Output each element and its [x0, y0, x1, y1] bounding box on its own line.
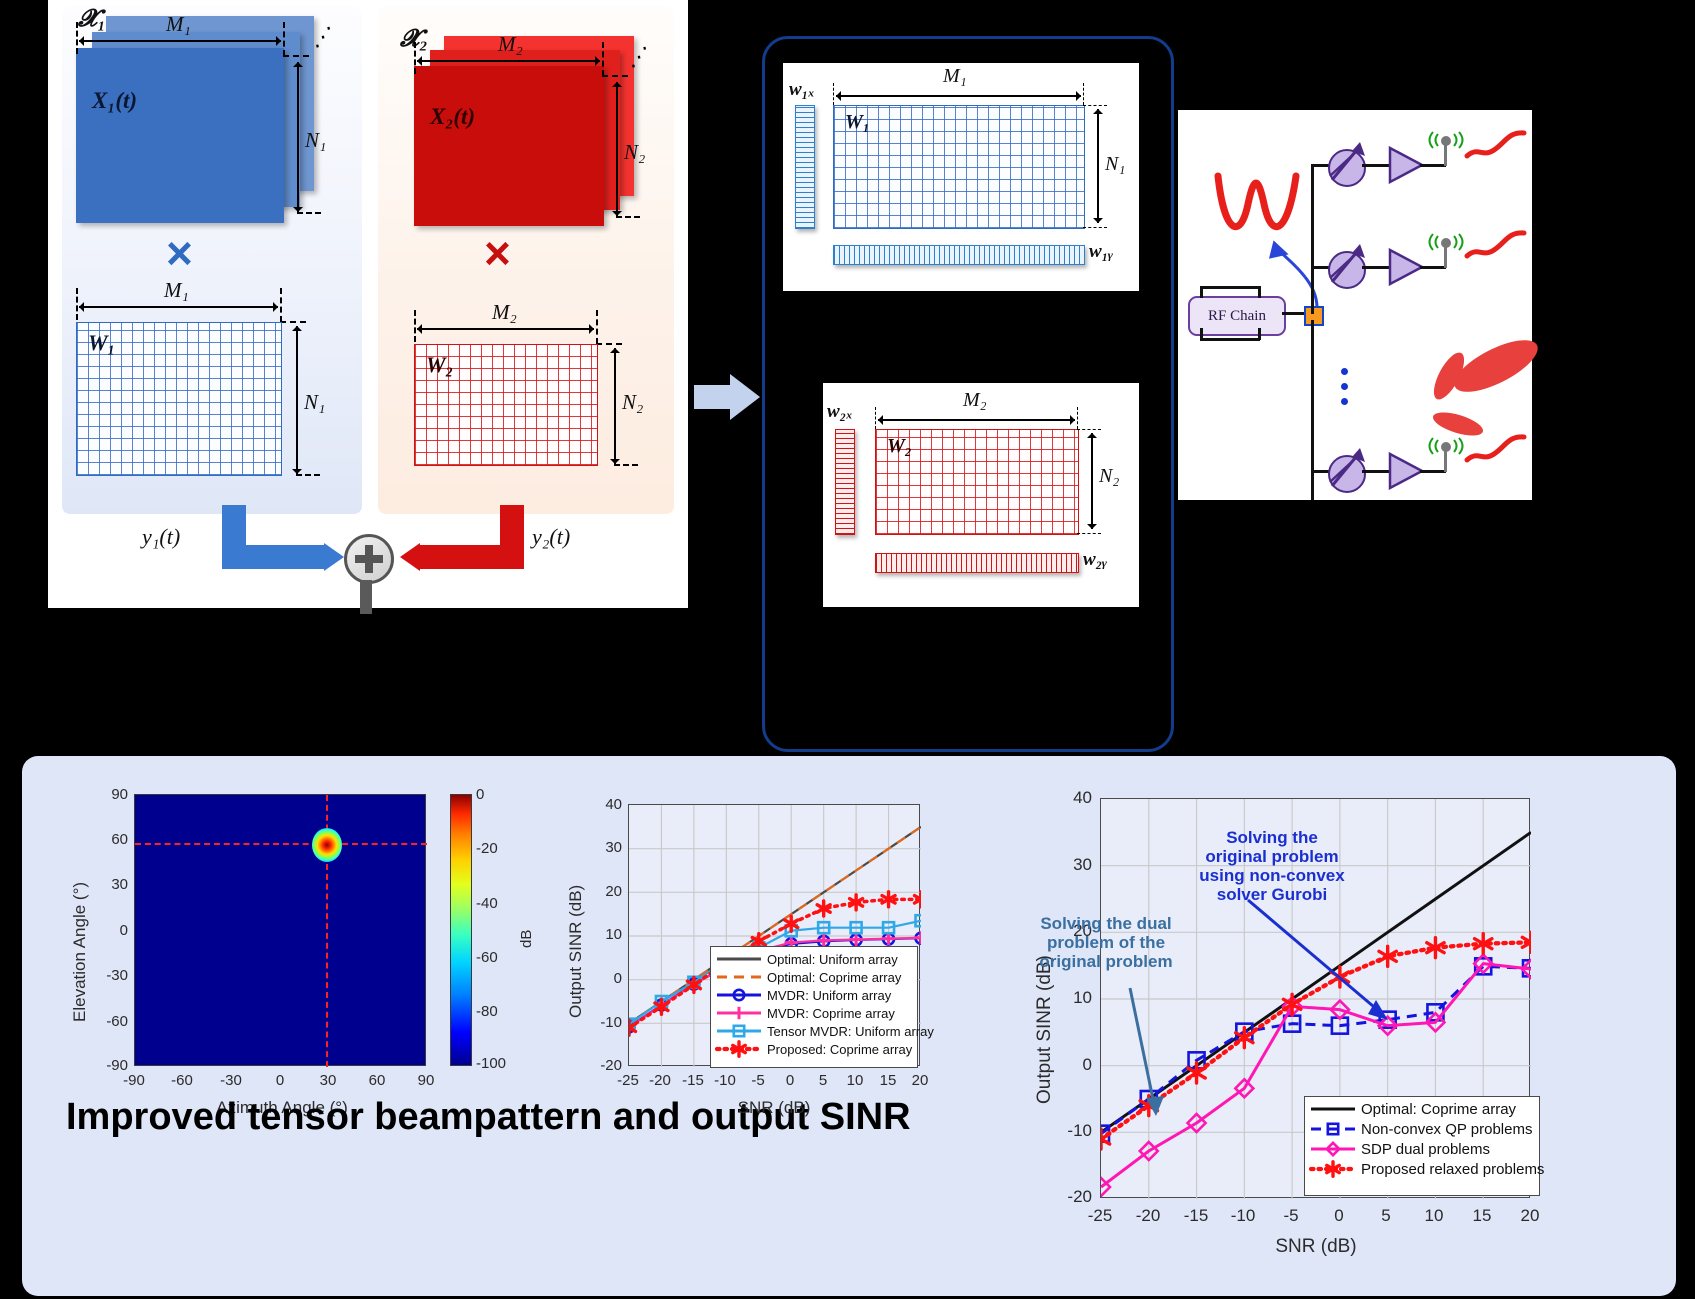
cbar-tick-0: 0 — [476, 786, 522, 803]
rf-architecture-panel: RF Chain — [1178, 110, 1532, 500]
cbar-label: dB — [518, 930, 535, 948]
heatmap-xtick-3: 0 — [256, 1072, 304, 1089]
heatmap-xtick-2: -30 — [207, 1072, 255, 1089]
legend-swatch — [715, 1004, 763, 1022]
legend-label: Proposed relaxed problems — [1361, 1161, 1544, 1178]
sinr2-xtick-9: 20 — [898, 1072, 942, 1089]
legend-swatch — [715, 1040, 763, 1058]
dim-label-w2-m: M₂ — [492, 300, 517, 325]
legend-label: MVDR: Uniform array — [767, 988, 891, 1003]
phase-shifter-arrow-2 — [1326, 240, 1368, 286]
decomp-matrix-w1-label: W₁ — [845, 111, 870, 134]
legend-entry: Proposed: Coprime array — [715, 1040, 913, 1058]
dim-arrow-m2 — [417, 60, 600, 62]
sum-output-stem — [360, 580, 372, 614]
sinr2-ytick-6: 40 — [578, 796, 622, 813]
weight-matrix-1-label: W₁ — [88, 330, 115, 356]
decomposition-card-1: w₁ₓ M₁ W₁ N₁ w₁ᵧ — [783, 63, 1139, 291]
dim-arrow-n1 — [297, 62, 299, 212]
heatmap-image — [134, 794, 426, 1066]
tensor1-label: 𝓧₁ — [78, 6, 106, 33]
legend-swatch — [715, 950, 763, 968]
summation-node — [344, 534, 394, 584]
phase-shifter-arrow-n — [1326, 444, 1368, 490]
legend-swatch — [1309, 1100, 1357, 1118]
sinr2-xlabel: SNR (dB) — [704, 1098, 844, 1118]
operator-times-1: × — [166, 230, 193, 276]
tensor-model-panel: 𝓧₁ X₁(t) ⋰ M₁ N₁ × M₁ W₁ N₁ y₁(t) 𝓧₂ X₂(… — [48, 0, 688, 608]
matrix2-label: X₂(t) — [430, 104, 475, 130]
heatmap-elevation-guide — [135, 843, 427, 845]
heatmap-ytick-1: 60 — [84, 831, 128, 848]
decomp-dim-m2: M₂ — [963, 389, 987, 412]
legend-entry: SDP dual problems — [1309, 1139, 1535, 1159]
heatmap-xtick-6: 90 — [402, 1072, 450, 1089]
annotation-arrow-dual — [1120, 984, 1180, 1124]
legend-entry: Optimal: Coprime array — [715, 968, 913, 986]
sinr3-xtick-3: -10 — [1219, 1206, 1267, 1226]
legend-entry: MVDR: Coprime array — [715, 1004, 913, 1022]
decomp-dim-m1: M₁ — [943, 65, 967, 88]
relaxation-comparison-chart: 40 30 20 10 0 -10 -20 -25 -20 -15 -10 -5… — [1012, 766, 1612, 1286]
decomp-matrix-w1 — [833, 105, 1085, 229]
sinr3-xtick-6: 5 — [1362, 1206, 1410, 1226]
dim-arrow-n2 — [616, 82, 618, 216]
splitter-node — [1304, 306, 1324, 326]
antenna-icon-1 — [1428, 130, 1464, 150]
vector-w2y-strip — [875, 553, 1079, 573]
sinr3-xtick-9: 20 — [1506, 1206, 1554, 1226]
legend-entry: Tensor MVDR: Uniform array — [715, 1022, 913, 1040]
cbar-tick-2: -40 — [476, 895, 522, 912]
beam-pattern-icon — [1414, 328, 1544, 448]
y1-label: y₁(t) — [142, 524, 180, 550]
cbar-tick-4: -80 — [476, 1003, 522, 1020]
legend-label: SDP dual problems — [1361, 1141, 1490, 1158]
dim-label-w1-n: N₁ — [304, 390, 325, 415]
flow-arrow-right — [694, 374, 760, 420]
sinr-comparison-chart: 40 30 20 10 0 -10 -20 -25 -20 -15 -10 -5… — [542, 778, 1002, 1198]
y2-arrow-head — [400, 543, 420, 571]
legend-label: Optimal: Coprime array — [1361, 1101, 1516, 1118]
heatmap-ytick-3: 0 — [84, 922, 128, 939]
dim-label-w1-m: M₁ — [164, 278, 189, 303]
decomp-matrix-w2-label: W₂ — [887, 435, 912, 458]
dim-label-n1: N₁ — [305, 128, 326, 153]
tensor1-slab-front — [76, 48, 284, 223]
sinr2-ylabel: Output SINR (dB) — [566, 885, 586, 1018]
legend-entry: Non-convex QP problems — [1309, 1119, 1535, 1139]
annotation-arrow-gurobi — [1242, 894, 1412, 1044]
decomposition-panel: w₁ₓ M₁ W₁ N₁ w₁ᵧ w₂ₓ M₂ W₂ N₂ w₂ᵧ — [762, 36, 1174, 752]
annotation-gurobi: Solving theoriginal problemusing non-con… — [1182, 828, 1362, 904]
heatmap-xtick-5: 60 — [353, 1072, 401, 1089]
dim-label-w2-n: N₂ — [622, 390, 643, 415]
dim-arrow-w2-n — [614, 348, 616, 464]
legend-swatch — [715, 968, 763, 986]
heatmap-colorbar — [450, 794, 472, 1066]
sinr3-xlabel: SNR (dB) — [1246, 1236, 1386, 1258]
heatmap-xtick-1: -60 — [158, 1072, 206, 1089]
sinr3-ytick-5: 30 — [1044, 855, 1092, 875]
dim-arrow-m1 — [79, 40, 281, 42]
vector-w1x-strip — [795, 105, 815, 229]
heatmap-ytick-5: -60 — [84, 1013, 128, 1030]
sinr3-ytick-1: -10 — [1044, 1121, 1092, 1141]
dim-label-n2: N₂ — [624, 140, 645, 165]
decomposition-card-2: w₂ₓ M₂ W₂ N₂ w₂ᵧ — [823, 383, 1139, 607]
legend-swatch — [1309, 1160, 1357, 1178]
antenna-icon-2 — [1428, 232, 1464, 252]
phase-shifter-arrow-1 — [1326, 138, 1368, 184]
pa-outline-1 — [1388, 146, 1424, 184]
cbar-tick-1: -20 — [476, 840, 522, 857]
vector-w1y-label: w₁ᵧ — [1089, 241, 1113, 263]
legend-entry: Proposed relaxed problems — [1309, 1159, 1535, 1179]
sinr3-ytick-0: -20 — [1044, 1187, 1092, 1207]
power-amplifier-icon-2 — [1388, 248, 1424, 286]
sinr3-xtick-8: 15 — [1458, 1206, 1506, 1226]
legend-entry: Optimal: Uniform array — [715, 950, 913, 968]
heatmap-ylabel: Elevation Angle (°) — [70, 882, 90, 1022]
sinr3-ylabel: Output SINR (dB) — [1034, 955, 1056, 1104]
heatmap-ytick-2: 30 — [84, 876, 128, 893]
heatmap-peak — [312, 828, 342, 862]
sinr3-xtick-7: 10 — [1410, 1206, 1458, 1226]
rf-chain-label: RF Chain — [1208, 308, 1266, 325]
legend-label: Non-convex QP problems — [1361, 1121, 1532, 1138]
sinr3-xtick-5: 0 — [1315, 1206, 1363, 1226]
tensor2-slab-front — [414, 66, 604, 226]
y1-arrow-head — [324, 543, 344, 571]
decomp-dim-n2: N₂ — [1099, 465, 1119, 488]
dim-label-m1: M₁ — [166, 12, 191, 37]
y2-label: y₂(t) — [532, 524, 570, 550]
weight-matrix-2-label: W₂ — [426, 352, 453, 378]
legend-label: Optimal: Uniform array — [767, 952, 898, 967]
legend-swatch — [715, 986, 763, 1004]
dim-arrow-w2-m — [417, 328, 594, 330]
annotation-dual: Solving the dualproblem of theoriginal p… — [1026, 914, 1186, 971]
legend-swatch — [1309, 1120, 1357, 1138]
vector-w1x-label: w₁ₓ — [789, 79, 815, 101]
output-waveform-icon-1 — [1464, 128, 1536, 168]
sinr3-ytick-6: 40 — [1044, 788, 1092, 808]
dim-label-m2: M₂ — [498, 32, 523, 57]
dim-arrow-w1-m — [79, 306, 278, 308]
heatmap-ytick-4: -30 — [84, 967, 128, 984]
cbar-tick-5: -100 — [476, 1055, 522, 1072]
sinr3-xtick-0: -25 — [1076, 1206, 1124, 1226]
legend-swatch — [1309, 1140, 1357, 1158]
results-panel: 90 60 30 0 -30 -60 -90 -90 -60 -30 0 30 … — [22, 756, 1676, 1296]
sinr3-xtick-1: -20 — [1124, 1206, 1172, 1226]
vector-w2y-label: w₂ᵧ — [1083, 549, 1107, 571]
sinr2-legend: Optimal: Uniform arrayOptimal: Coprime a… — [710, 946, 918, 1068]
decomp-dim-n1: N₁ — [1105, 153, 1125, 176]
legend-label: MVDR: Coprime array — [767, 1006, 895, 1021]
legend-entry: MVDR: Uniform array — [715, 986, 913, 1004]
cbar-tick-3: -60 — [476, 949, 522, 966]
legend-swatch — [715, 1022, 763, 1040]
y1-elbow-horz — [222, 545, 326, 569]
dim-arrow-w1-n — [296, 326, 298, 474]
heatmap-xtick-0: -90 — [110, 1072, 158, 1089]
vector-w2x-strip — [835, 429, 855, 535]
sinr3-xtick-4: -5 — [1267, 1206, 1315, 1226]
sinr3-legend: Optimal: Coprime arrayNon-convex QP prob… — [1304, 1096, 1540, 1196]
legend-label: Tensor MVDR: Uniform array — [767, 1024, 934, 1039]
sinr3-xtick-2: -15 — [1172, 1206, 1220, 1226]
vertical-ellipsis — [1341, 368, 1348, 405]
operator-times-2: × — [484, 230, 511, 276]
legend-label: Optimal: Coprime array — [767, 970, 901, 985]
vector-w1y-strip — [833, 245, 1085, 265]
heatmap-xtick-4: 30 — [304, 1072, 352, 1089]
heatmap-ytick-0: 90 — [84, 786, 128, 803]
power-amplifier-icon-n — [1388, 452, 1424, 490]
legend-label: Proposed: Coprime array — [767, 1042, 912, 1057]
legend-entry: Optimal: Coprime array — [1309, 1099, 1535, 1119]
sinr2-ytick-5: 30 — [578, 839, 622, 856]
y2-elbow-horz — [420, 545, 524, 569]
matrix1-label: X₁(t) — [92, 88, 137, 114]
output-waveform-icon-2 — [1464, 228, 1536, 268]
vector-w2x-label: w₂ₓ — [827, 401, 853, 423]
